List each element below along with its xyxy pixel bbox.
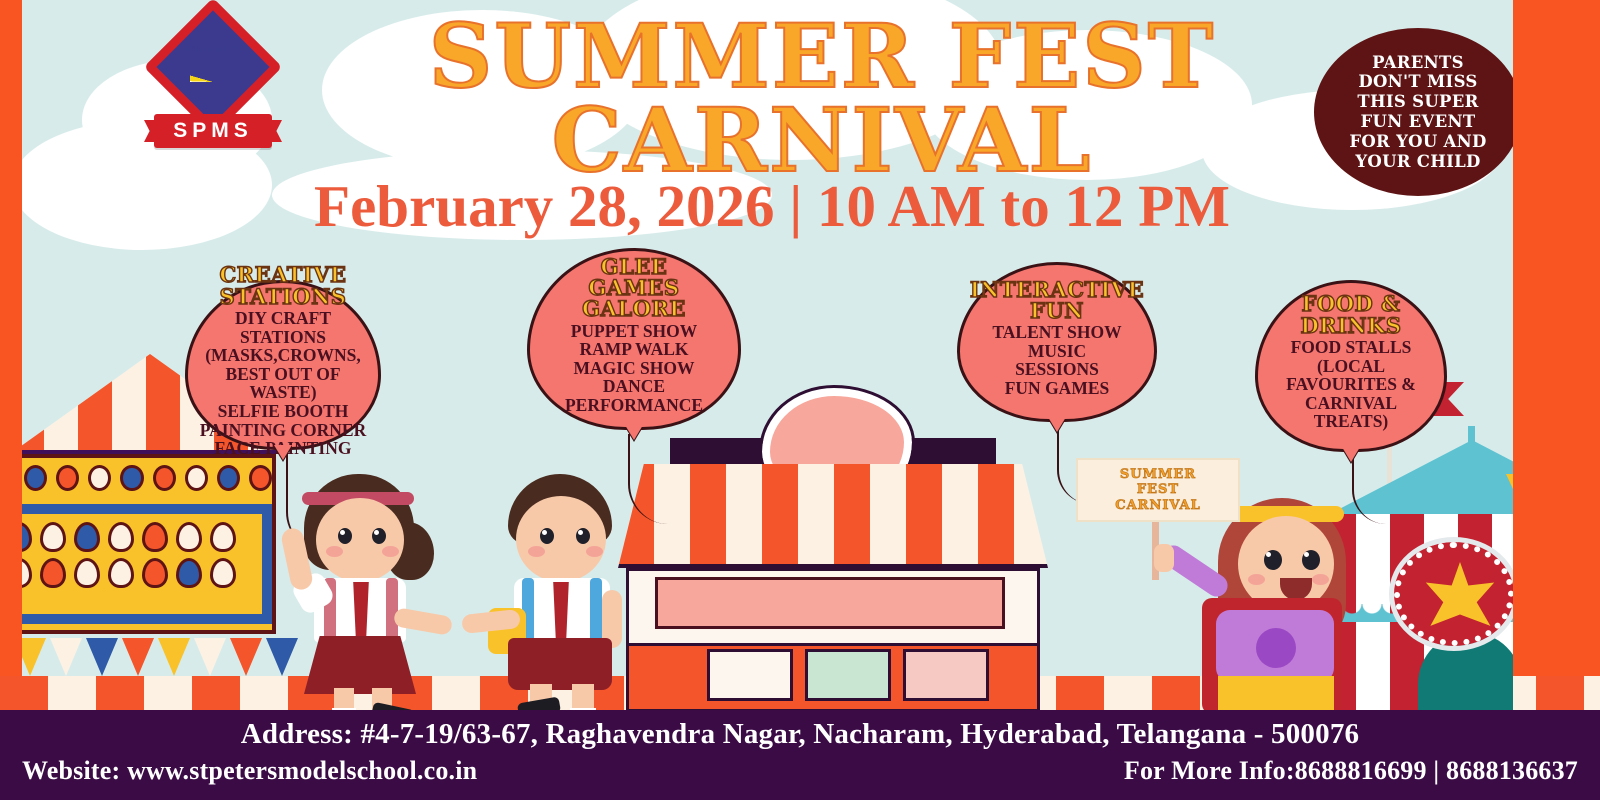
balloon-body: PUPPET SHOWRAMP WALKMAGIC SHOWDANCEPERFO… [565,322,703,415]
balloon-body: FOOD STALLS(LOCALFAVOURITES &CARNIVALTRE… [1286,338,1416,431]
balloon-bulb: FOOD &DRINKS FOOD STALLS(LOCALFAVOURITES… [1255,280,1447,452]
stall-menu-sign [655,577,1005,629]
balloon-body: TALENT SHOWMUSICSESSIONSFUN GAMES [992,323,1121,397]
girl-face [316,498,404,582]
girl-cheek [326,546,343,557]
stall-mini-balloon [142,522,168,552]
balloon-bulb: GLEEGAMESGALORE PUPPET SHOWRAMP WALKMAGI… [527,248,741,430]
stall-mini-balloon [74,522,100,552]
badge-line-4: FUN EVENT [1361,112,1476,132]
stall-board [22,454,276,634]
tent-star-medallion [1394,542,1513,646]
target-disc [249,465,272,491]
logo-inner [173,27,253,107]
boy-shorts [508,638,612,690]
girl-eye [372,528,386,544]
poster-root: CREATIVESTATIONS DIY CRAFT STATIONS(MASK… [0,0,1600,800]
bunting-flag [122,638,154,676]
badge-line-5: FOR YOU AND [1349,132,1486,152]
event-date-time: February 28, 2026 | 10 AM to 12 PM [162,172,1382,241]
stall-display-tile [707,649,793,701]
stall-mini-balloon [210,558,236,588]
target-disc [120,465,143,491]
badge-line-2: DON'T MISS [1358,72,1477,92]
balloon-heading: INTERACTIVEFUN [970,279,1144,322]
balloon-food-drinks[interactable]: FOOD &DRINKS FOOD STALLS(LOCALFAVOURITES… [1255,280,1447,452]
stall-mini-balloon [22,558,32,588]
boy-backpack-strap [590,578,602,642]
school-logo: EXCELLENCE SPMS [142,8,282,168]
girl2-cheek [1312,574,1329,585]
cotton-candy-stall [618,392,1048,712]
boy-eye [540,528,554,544]
stall-disc-row [22,458,272,498]
logo-name-banner: SPMS [154,114,272,148]
balloon-glee-games-galore[interactable]: GLEEGAMESGALORE PUPPET SHOWRAMP WALKMAGI… [527,248,741,430]
bunting-flag [50,638,82,676]
stall-awning [618,464,1048,568]
parents-notice-badge: PARENTS DON'T MISS THIS SUPER FUN EVENT … [1314,28,1513,196]
footer-bar: Address: #4-7-19/63-67, Raghavendra Naga… [0,710,1600,800]
balloon-heading: CREATIVESTATIONS [219,264,346,307]
girl-cheek [382,546,399,557]
balloon-creative-stations[interactable]: CREATIVESTATIONS DIY CRAFT STATIONS(MASK… [185,280,381,450]
bunting-flag [22,638,46,676]
bunting-flag [86,638,118,676]
placard-line-2: FEST [1137,482,1179,497]
girl2-hand [1154,544,1174,572]
stall-mini-balloon [40,558,66,588]
stall-mini-balloon [176,522,202,552]
logo-fan-icon [190,52,236,82]
summer-fest-placard: SUMMER FEST CARNIVAL [1076,458,1240,522]
boy-face [516,496,606,582]
badge-line-1: PARENTS [1372,53,1464,73]
poster-stage: CREATIVESTATIONS DIY CRAFT STATIONS(MASK… [22,0,1513,800]
badge-line-3: THIS SUPER [1357,92,1478,112]
logo-motto-excellence: EXCELLENCE [172,44,254,53]
girl-strap [386,578,398,640]
bunting-flag [1474,474,1502,504]
target-disc [217,465,240,491]
footer-address: Address: #4-7-19/63-67, Raghavendra Naga… [22,715,1578,754]
girl-skirt [304,636,416,694]
page-title: SUMMER FEST CARNIVAL [322,14,1322,183]
star-icon [1422,562,1498,638]
stall-body [626,568,1040,712]
child-boy-left [490,470,640,720]
boy-cheek [528,546,545,557]
girl2-cheek [1248,574,1265,585]
placard-line-3: CARNIVAL [1115,498,1201,513]
footer-website[interactable]: Website: www.stpetersmodelschool.co.in [22,756,477,786]
child-girl-left [290,470,440,720]
title-line-2: CARNIVAL [322,98,1322,182]
balloon-interactive-fun[interactable]: INTERACTIVEFUN TALENT SHOWMUSICSESSIONSF… [957,262,1157,422]
title-line-1: SUMMER FEST [322,14,1322,98]
logo-name-text: SPMS [173,119,253,143]
girl-eye [338,528,352,544]
target-disc [24,465,47,491]
placard-line-1: SUMMER [1120,467,1196,482]
bunting-flag [158,638,190,676]
target-disc [56,465,79,491]
stall-display-tile [805,649,891,701]
stall-mini-balloon [210,522,236,552]
stall-balloon-frame [22,504,272,624]
stall-balloon-grid [22,514,262,596]
stall-mini-balloon [22,522,32,552]
bunting-flag [194,638,226,676]
stall-mini-balloon [176,558,202,588]
bunting-flag [1506,474,1513,504]
balloon-heading: FOOD &DRINKS [1300,293,1401,336]
stall-display-tile [903,649,989,701]
balloon-body: DIY CRAFT STATIONS(MASKS,CROWNS,BEST OUT… [196,309,370,457]
stall-mini-balloon [40,522,66,552]
flower-icon [1256,628,1296,668]
target-disc [153,465,176,491]
badge-line-6: YOUR CHILD [1355,152,1480,172]
stall-mini-balloon [108,522,134,552]
target-disc [88,465,111,491]
stall-mini-balloon [142,558,168,588]
stall-bunting [22,638,308,684]
balloon-bulb: CREATIVESTATIONS DIY CRAFT STATIONS(MASK… [185,280,381,450]
boy-cheek [586,546,603,557]
footer-contact-row: Website: www.stpetersmodelschool.co.in F… [22,756,1578,786]
balloon-bulb: INTERACTIVEFUN TALENT SHOWMUSICSESSIONSF… [957,262,1157,422]
bunting-flag [230,638,262,676]
boy-eye [576,528,590,544]
child-girl-right [1172,494,1362,714]
girl2-skirt [1218,676,1334,712]
girl2-eye [1302,550,1320,570]
girl2-eye [1264,550,1282,570]
stall-mini-balloon [74,558,100,588]
tent-bunting [1474,474,1513,514]
footer-phone[interactable]: For More Info:8688816699 | 8688136637 [1124,756,1578,786]
target-disc [185,465,208,491]
stall-mini-balloon [108,558,134,588]
balloon-heading: GLEEGAMESGALORE [582,256,686,320]
